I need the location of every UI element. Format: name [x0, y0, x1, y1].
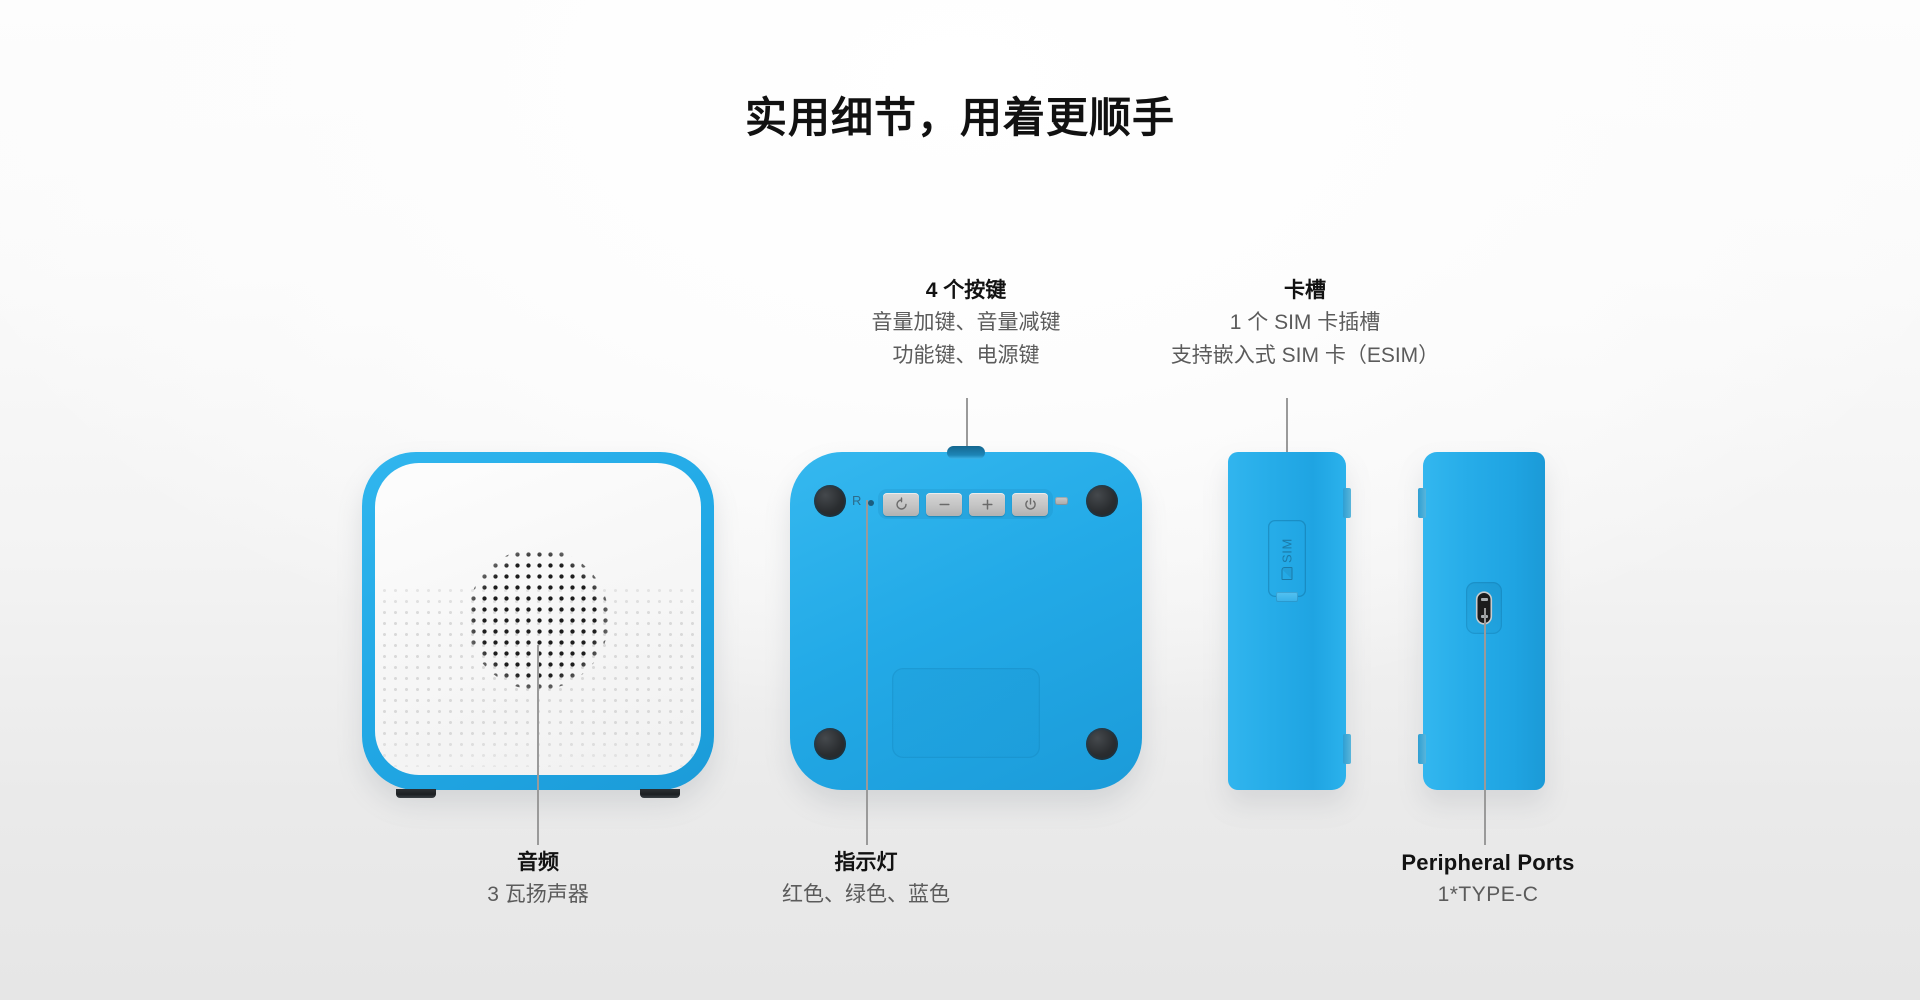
- usb-side-tab-bottom: [1418, 734, 1426, 764]
- device-sim-side-view: SIM: [1228, 452, 1346, 790]
- device-sim-shell: [1228, 452, 1346, 790]
- microphone-slot: [947, 446, 985, 459]
- sim-card-icon: [1282, 566, 1293, 579]
- leader-line-audio: [537, 645, 539, 845]
- callout-sim-title: 卡槽: [1130, 276, 1480, 306]
- rubber-foot-bottom-left: [814, 728, 846, 760]
- callout-ports-line-1: 1*TYPE-C: [1328, 878, 1648, 911]
- callout-audio-line-1: 3 瓦扬声器: [378, 878, 698, 911]
- volume-down-key[interactable]: [926, 493, 962, 516]
- callout-ports: Peripheral Ports 1*TYPE-C: [1328, 848, 1648, 911]
- callout-indicator-line-1: 红色、绿色、蓝色: [706, 878, 1026, 911]
- led-indicator-window: [1055, 497, 1068, 505]
- rating-label-plate: [892, 668, 1040, 758]
- callout-ports-title: Peripheral Ports: [1328, 848, 1648, 878]
- callout-sim: 卡槽 1 个 SIM 卡插槽 支持嵌入式 SIM 卡（ESIM）: [1130, 276, 1480, 372]
- callout-buttons: 4 个按键 音量加键、音量减键 功能键、电源键: [806, 276, 1126, 372]
- callout-audio: 音频 3 瓦扬声器: [378, 848, 698, 911]
- callout-indicator: 指示灯 红色、绿色、蓝色: [706, 848, 1026, 911]
- sim-tray-label: SIM: [1280, 538, 1295, 563]
- usb-c-contact-top: [1481, 598, 1488, 601]
- rubber-foot-bottom-right: [1086, 728, 1118, 760]
- sim-tray[interactable]: SIM: [1268, 520, 1306, 597]
- reset-pinhole[interactable]: [868, 500, 874, 506]
- callout-buttons-title: 4 个按键: [806, 276, 1126, 306]
- sim-tray-text-group: SIM: [1280, 538, 1295, 580]
- callout-indicator-title: 指示灯: [706, 848, 1026, 878]
- front-foot-left: [396, 789, 436, 798]
- volume-up-key[interactable]: [969, 493, 1005, 516]
- page-title: 实用细节，用着更顺手: [0, 84, 1920, 145]
- reset-label: R: [852, 493, 861, 508]
- side-tab-top: [1343, 488, 1351, 518]
- callout-audio-title: 音频: [378, 848, 698, 878]
- usb-side-tab-top: [1418, 488, 1426, 518]
- device-rear-view: R: [790, 452, 1142, 790]
- function-key[interactable]: [883, 493, 919, 516]
- rubber-foot-top-right: [1086, 485, 1118, 517]
- callout-sim-line-2: 支持嵌入式 SIM 卡（ESIM）: [1130, 339, 1480, 372]
- power-key[interactable]: [1012, 493, 1048, 516]
- leader-line-ports: [1484, 608, 1486, 845]
- product-detail-page: 实用细节，用着更顺手 4 个按键 音量加键、音量减键 功能键、电源键 卡槽 1 …: [0, 0, 1920, 1000]
- callout-buttons-line-1: 音量加键、音量减键: [806, 306, 1126, 339]
- callout-sim-line-1: 1 个 SIM 卡插槽: [1130, 306, 1480, 339]
- button-strip: [878, 489, 1053, 519]
- front-foot-right: [640, 789, 680, 798]
- callout-buttons-line-2: 功能键、电源键: [806, 339, 1126, 372]
- sim-tray-nub: [1276, 592, 1298, 602]
- leader-line-indicator: [866, 500, 868, 845]
- rubber-foot-top-left: [814, 485, 846, 517]
- side-tab-bottom: [1343, 734, 1351, 764]
